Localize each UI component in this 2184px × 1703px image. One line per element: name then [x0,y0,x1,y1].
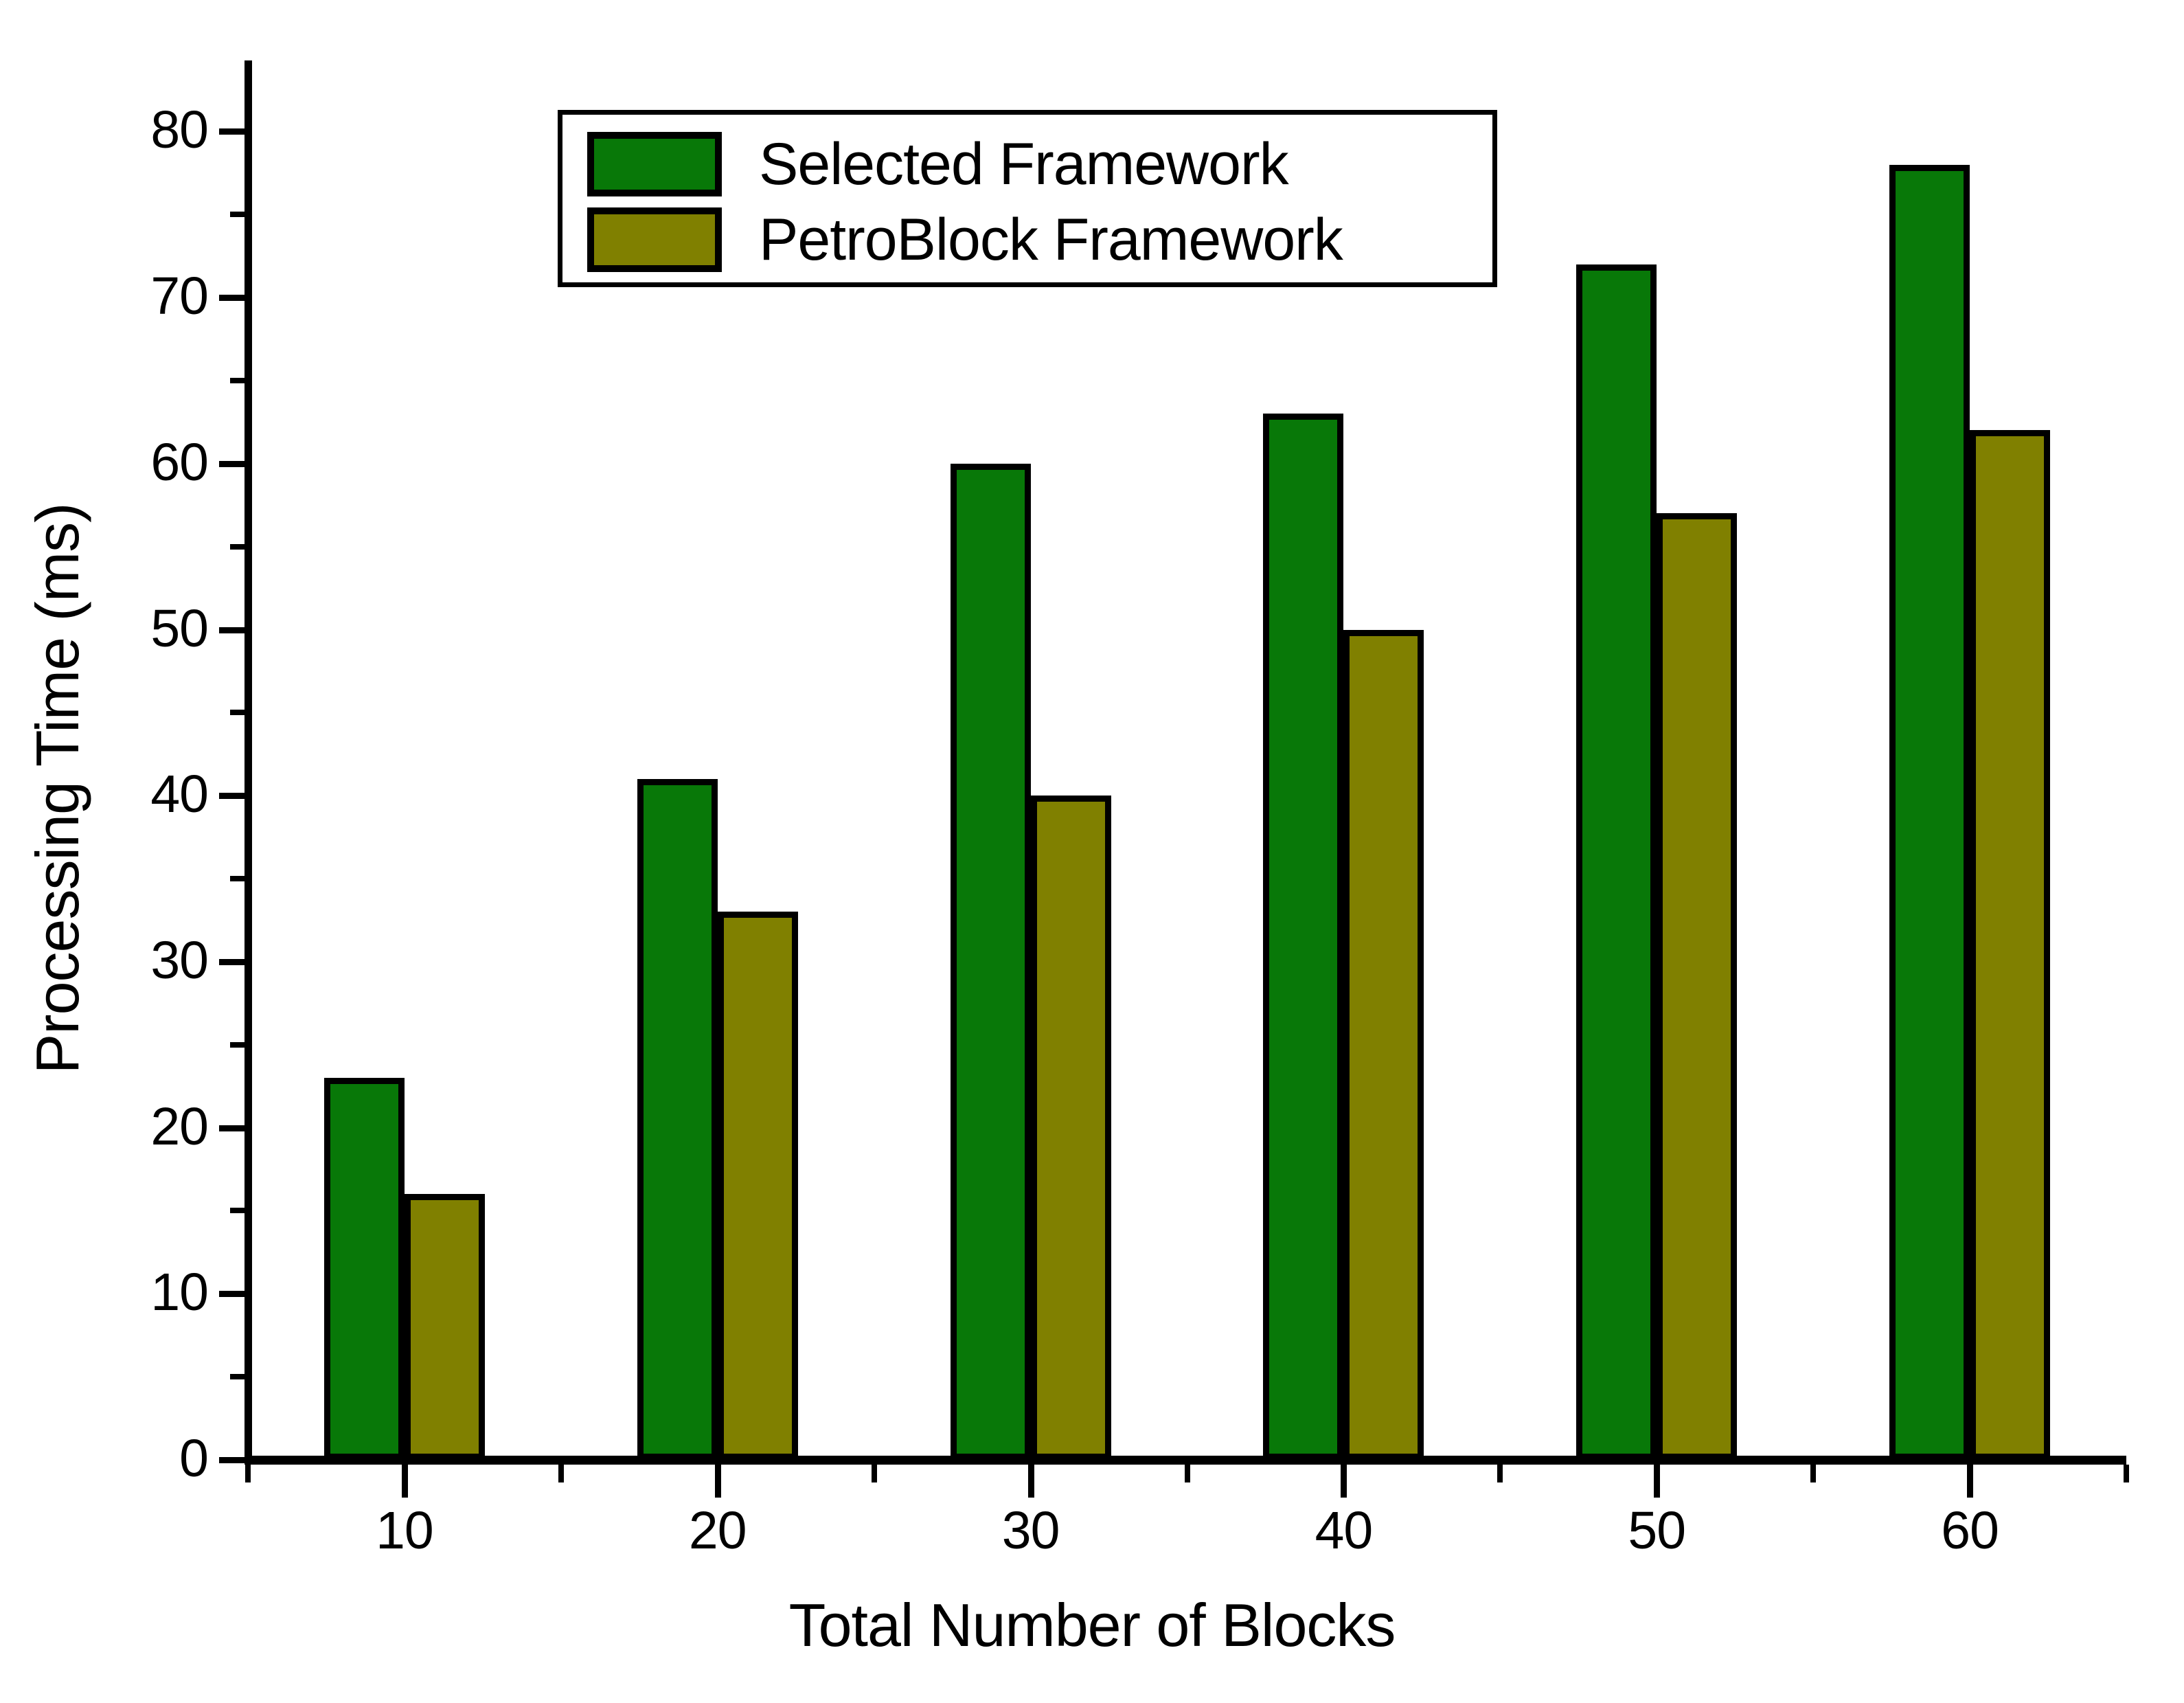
bar-chart-figure: 01020304050607080 102030405060 Processin… [0,0,2184,1703]
legend-label-selected-framework: Selected Framework [759,132,1288,196]
legend-label-petroblock-framework: PetroBlock Framework [759,207,1343,272]
y-tick-minor [230,710,248,715]
y-tick-label: 70 [84,270,208,323]
bar-selected-framework-60 [1889,165,1970,1460]
x-tick-label: 40 [1275,1502,1412,1559]
y-tick-major [219,295,248,301]
y-tick-major [219,793,248,799]
y-tick-minor [230,876,248,881]
y-axis-title: Processing Time (ms) [25,136,91,1441]
y-tick-major [219,128,248,135]
x-tick-label: 50 [1588,1502,1725,1559]
y-tick-label: 10 [84,1266,208,1319]
x-tick-major [715,1465,721,1498]
x-tick-major [1967,1465,1973,1498]
y-tick-label: 60 [84,436,208,489]
x-tick-label: 60 [1901,1502,2038,1559]
bar-petroblock-framework-10 [405,1194,485,1460]
x-tick-major [1028,1465,1034,1498]
y-axis-spine [244,60,252,1464]
y-tick-major [219,959,248,965]
x-tick-minor [1185,1465,1190,1482]
x-tick-minor [2124,1465,2129,1482]
bar-petroblock-framework-60 [1970,430,2050,1460]
y-tick-label: 0 [84,1432,208,1485]
y-tick-label: 40 [84,768,208,821]
y-tick-minor [230,1208,248,1213]
x-tick-major [402,1465,408,1498]
x-tick-major [1654,1465,1660,1498]
bar-selected-framework-40 [1263,414,1343,1460]
x-tick-label: 20 [649,1502,786,1559]
bar-petroblock-framework-30 [1031,796,1111,1460]
x-tick-minor [1497,1465,1503,1482]
x-tick-major [1341,1465,1347,1498]
y-tick-minor [230,212,248,217]
y-tick-major [219,627,248,633]
x-tick-minor [245,1465,251,1482]
y-tick-label: 50 [84,602,208,655]
x-tick-minor [872,1465,877,1482]
y-tick-major [219,461,248,467]
x-tick-minor [1810,1465,1816,1482]
bar-selected-framework-10 [324,1078,405,1460]
legend-entry-selected-framework: Selected Framework [587,130,1492,199]
y-tick-label: 30 [84,934,208,987]
y-tick-minor [230,544,248,550]
bar-petroblock-framework-40 [1343,630,1424,1460]
y-tick-label: 20 [84,1101,208,1153]
y-tick-minor [230,1374,248,1379]
x-tick-label: 30 [962,1502,1100,1559]
legend-entry-petroblock-framework: PetroBlock Framework [587,205,1492,274]
y-tick-minor [230,1042,248,1048]
y-tick-label: 80 [84,104,208,157]
legend-swatch-selected-framework [587,132,722,196]
bar-selected-framework-20 [637,779,718,1460]
bar-petroblock-framework-50 [1657,513,1737,1460]
x-axis-title: Total Number of Blocks [0,1592,2184,1658]
chart-legend: Selected Framework PetroBlock Framework [558,110,1497,287]
y-tick-major [219,1457,248,1463]
y-tick-minor [230,378,248,383]
bar-selected-framework-50 [1576,264,1657,1460]
y-tick-major [219,1125,248,1131]
legend-swatch-petroblock-framework [587,207,722,272]
bar-petroblock-framework-20 [718,912,798,1460]
x-tick-minor [558,1465,564,1482]
y-tick-major [219,1291,248,1297]
x-axis-spine [244,1456,2126,1465]
bar-selected-framework-30 [951,464,1031,1460]
x-tick-label: 10 [336,1502,473,1559]
